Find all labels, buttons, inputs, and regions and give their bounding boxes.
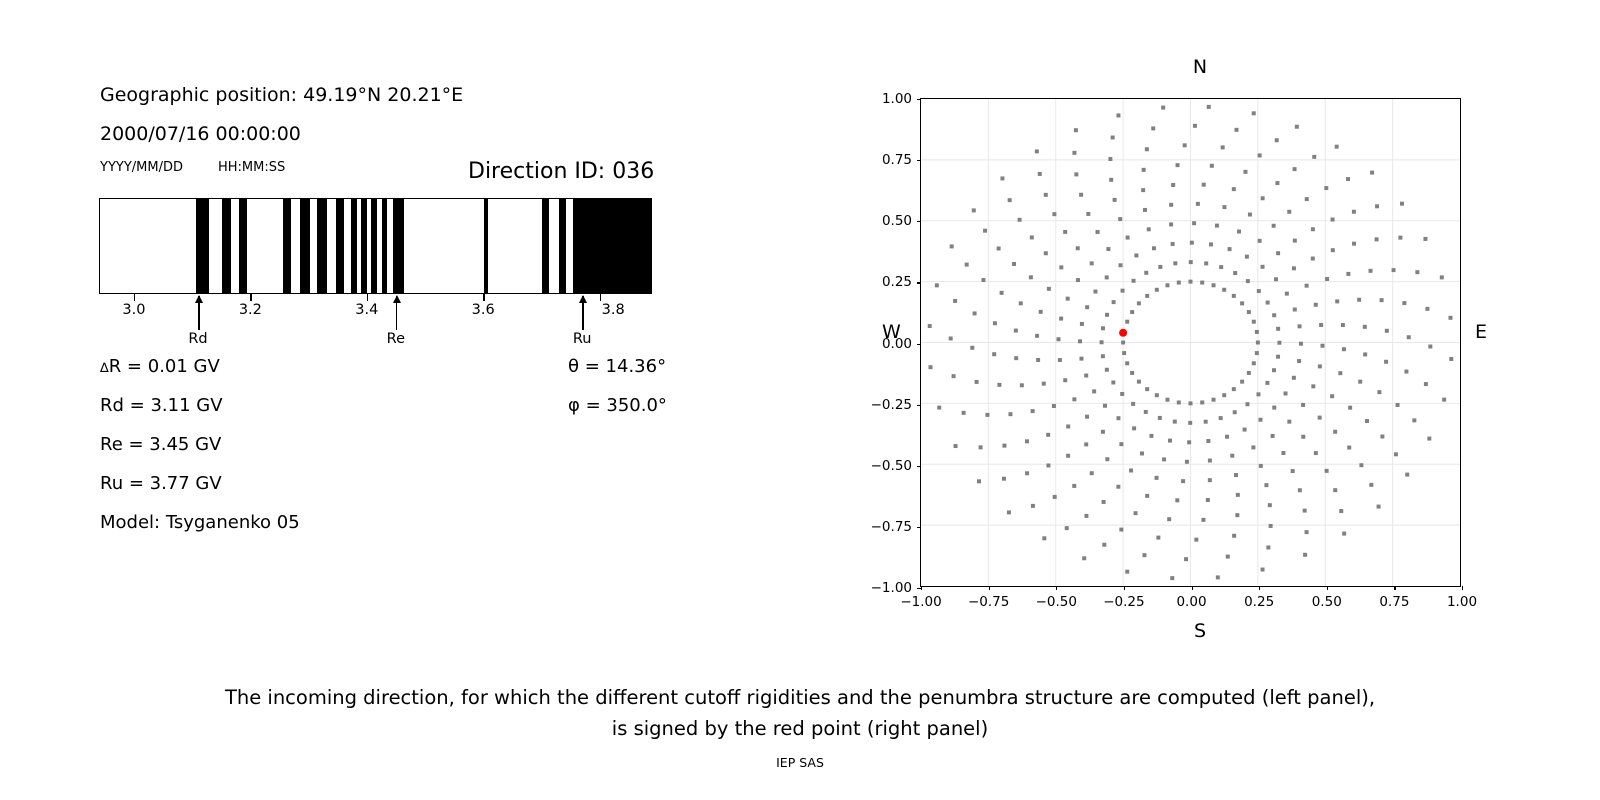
penumbra-tick [600, 294, 601, 301]
direction-point [1101, 326, 1105, 330]
x-axis-label: 1.00 [1447, 594, 1477, 610]
direction-point [1325, 469, 1329, 473]
direction-point [1264, 483, 1268, 487]
direction-point [1025, 439, 1029, 443]
direction-point [1076, 246, 1080, 250]
direction-point [1425, 307, 1429, 311]
direction-point [1132, 279, 1136, 283]
penumbra-axis: 3.03.23.43.63.8RdReRu [99, 294, 652, 354]
direction-point [1149, 434, 1153, 438]
direction-point [1442, 398, 1446, 402]
direction-point [1192, 221, 1196, 225]
direction-point [1299, 342, 1303, 346]
penumbra-band [542, 199, 549, 293]
direction-point [1130, 310, 1134, 314]
direction-point [1243, 428, 1247, 432]
y-axis-label: 1.00 [882, 91, 912, 107]
direction-point [1274, 277, 1278, 281]
direction-point [1392, 268, 1396, 272]
direction-point [1303, 553, 1307, 557]
direction-point [1184, 557, 1188, 561]
direction-point [1038, 172, 1042, 176]
direction-point [973, 311, 977, 315]
direction-point [937, 406, 941, 410]
direction-point [1170, 576, 1174, 580]
penumbra-bands-container [100, 199, 651, 293]
direction-point [1145, 387, 1149, 391]
direction-point [1201, 518, 1205, 522]
direction-point [1155, 393, 1159, 397]
compass-label-north: N [1193, 56, 1207, 78]
direction-point [1240, 380, 1244, 384]
direction-point [1044, 193, 1048, 197]
direction-point [935, 283, 939, 287]
direction-point [962, 411, 966, 415]
direction-point [1059, 265, 1063, 269]
compass-label-east: E [1475, 321, 1487, 343]
direction-point [1102, 543, 1106, 547]
direction-point [1298, 324, 1302, 328]
direction-point [1118, 217, 1122, 221]
direction-point [950, 244, 954, 248]
direction-point [1000, 176, 1004, 180]
direction-point [1161, 106, 1165, 110]
direction-point [1158, 416, 1162, 420]
direction-point [1448, 316, 1452, 320]
direction-point [1380, 298, 1384, 302]
direction-point [1255, 351, 1259, 355]
direction-point [1292, 266, 1296, 270]
direction-point [1018, 218, 1022, 222]
direction-point [1002, 477, 1006, 481]
direction-point [1287, 210, 1291, 214]
direction-point [1134, 253, 1138, 257]
direction-point [1275, 181, 1279, 185]
direction-point [1210, 164, 1214, 168]
penumbra-structure-chart [99, 198, 652, 294]
direction-point [1232, 534, 1236, 538]
direction-point [1130, 371, 1134, 375]
direction-point [1276, 327, 1280, 331]
direction-point [997, 246, 1001, 250]
penumbra-band [393, 199, 404, 293]
penumbra-band [573, 199, 652, 293]
penumbra-tick-label: 3.2 [239, 302, 262, 318]
direction-point [1325, 277, 1329, 281]
direction-point [1084, 442, 1088, 446]
y-axis-label: −0.75 [871, 519, 912, 535]
direction-point [985, 413, 989, 417]
direction-point [1257, 289, 1261, 293]
direction-point [1215, 224, 1219, 228]
y-axis-tick [917, 282, 921, 283]
direction-point [1275, 138, 1279, 142]
direction-point [1321, 344, 1325, 348]
direction-point [1384, 360, 1388, 364]
direction-point [1171, 183, 1175, 187]
direction-point [1141, 188, 1145, 192]
direction-point [1341, 323, 1345, 327]
direction-point [1121, 341, 1125, 345]
direction-point [1226, 555, 1230, 559]
direction-point [1292, 376, 1296, 380]
selected-direction-point[interactable] [1119, 329, 1127, 337]
direction-point [1207, 105, 1211, 109]
footer-credit: IEP SAS [0, 755, 1600, 770]
x-axis-tick [1462, 586, 1463, 590]
direction-point [1031, 504, 1035, 508]
penumbra-band [361, 199, 366, 293]
direction-point [952, 374, 956, 378]
y-axis-label: 0.25 [882, 274, 912, 290]
direction-point [1333, 430, 1337, 434]
direction-point [1228, 247, 1232, 251]
penumbra-tick [134, 294, 135, 301]
direction-point [1423, 237, 1427, 241]
direction-point [1100, 340, 1104, 344]
y-axis-label: −0.25 [871, 397, 912, 413]
direction-point [1281, 451, 1285, 455]
param-theta: θ = 14.36° [568, 356, 666, 377]
direction-point [1171, 242, 1175, 246]
direction-point [1314, 451, 1318, 455]
direction-point [1116, 485, 1120, 489]
direction-point [1219, 265, 1223, 269]
direction-point [1129, 468, 1133, 472]
direction-point [1121, 289, 1125, 293]
direction-point [1063, 378, 1067, 382]
direction-point [1318, 416, 1322, 420]
direction-point [1112, 300, 1116, 304]
direction-point [1247, 371, 1251, 375]
direction-point [1259, 464, 1263, 468]
y-axis-tick [917, 527, 921, 528]
direction-point [1156, 536, 1160, 540]
direction-point [1338, 371, 1342, 375]
direction-point [1261, 196, 1265, 200]
y-axis-tick [917, 160, 921, 161]
direction-point [1169, 203, 1173, 207]
direction-point [1047, 287, 1051, 291]
penumbra-band [283, 199, 291, 293]
direction-point [1066, 454, 1070, 458]
right-panel: N S W E −1.00−0.75−0.50−0.250.000.250.50… [800, 0, 1600, 660]
direction-point [1301, 403, 1305, 407]
direction-point [1330, 394, 1334, 398]
penumbra-band [239, 199, 248, 293]
direction-point [954, 444, 958, 448]
direction-point [1086, 212, 1090, 216]
cutoff-marker-label-rd: Rd [188, 331, 207, 347]
direction-point [1113, 198, 1117, 202]
direction-point [1105, 368, 1109, 372]
y-axis-label: −0.50 [871, 458, 912, 474]
direction-point [1183, 143, 1187, 147]
direction-point [1333, 488, 1337, 492]
penumbra-band [300, 199, 310, 293]
direction-point [1105, 313, 1109, 317]
x-axis-tick [989, 586, 990, 590]
direction-point [1324, 186, 1328, 190]
direction-point [1176, 163, 1180, 167]
direction-point [1245, 255, 1249, 259]
direction-point [1404, 370, 1408, 374]
time-format-hint: HH:MM:SS [218, 160, 285, 175]
direction-point [1111, 136, 1115, 140]
direction-point [1072, 397, 1076, 401]
direction-point [1155, 476, 1159, 480]
direction-point [1346, 177, 1350, 181]
datetime-text: 2000/07/16 00:00:00 [100, 123, 301, 145]
direction-point [1085, 415, 1089, 419]
direction-point [1057, 337, 1061, 341]
direction-point [1105, 275, 1109, 279]
direction-point [1402, 301, 1406, 305]
direction-point [1140, 451, 1144, 455]
direction-point [1042, 382, 1046, 386]
direction-point [1212, 398, 1216, 402]
direction-point [1396, 403, 1400, 407]
direction-point [1258, 153, 1262, 157]
direction-point [1090, 471, 1094, 475]
penumbra-band [559, 199, 566, 293]
direction-point [1415, 270, 1419, 274]
direction-point [1331, 248, 1335, 252]
direction-point [1012, 262, 1016, 266]
direction-point [1251, 445, 1255, 449]
direction-point [1208, 459, 1212, 463]
direction-point [1342, 347, 1346, 351]
direction-point [1265, 381, 1269, 385]
direction-point [1111, 380, 1115, 384]
direction-point [1200, 281, 1204, 285]
x-axis-tick [1327, 586, 1328, 590]
y-axis-label: 0.00 [882, 336, 912, 352]
direction-point [1222, 205, 1226, 209]
cutoff-marker-arrow-re [396, 296, 398, 330]
param-model: Model: Tsyganenko 05 [100, 512, 300, 533]
direction-point [1291, 469, 1295, 473]
direction-point [1165, 398, 1169, 402]
direction-point [1096, 230, 1100, 234]
direction-point [1235, 513, 1239, 517]
direction-point [1116, 113, 1120, 117]
direction-point [1284, 391, 1288, 395]
direction-point [972, 208, 976, 212]
direction-point [1266, 545, 1270, 549]
direction-point [1347, 446, 1351, 450]
x-axis-tick [921, 586, 922, 590]
direction-point [1412, 418, 1416, 422]
direction-point [1271, 434, 1275, 438]
direction-point [1145, 147, 1149, 151]
direction-point [1125, 320, 1129, 324]
direction-point [928, 324, 932, 328]
direction-point [1092, 389, 1096, 393]
direction-point [1293, 307, 1297, 311]
direction-point [1152, 246, 1156, 250]
direction-point [1072, 484, 1076, 488]
scatter-points-layer [921, 99, 1460, 586]
direction-point [1405, 473, 1409, 477]
direction-point [1252, 320, 1256, 324]
penumbra-tick-label: 3.4 [355, 302, 378, 318]
direction-point [1377, 390, 1381, 394]
direction-point [970, 346, 974, 350]
direction-point [1235, 128, 1239, 132]
direction-point [1377, 505, 1381, 509]
direction-point [1261, 568, 1265, 572]
direction-point [1059, 317, 1063, 321]
direction-point [1177, 400, 1181, 404]
direction-point [1209, 242, 1213, 246]
cutoff-marker-arrow-rd [198, 296, 200, 330]
x-axis-label: −1.00 [900, 594, 941, 610]
direction-point [1076, 278, 1080, 282]
direction-point [1204, 420, 1208, 424]
direction-point [1232, 187, 1236, 191]
direction-point [1268, 503, 1272, 507]
penumbra-tick [483, 294, 484, 301]
x-axis-tick [1394, 586, 1395, 590]
direction-point [1181, 479, 1185, 483]
direction-point [1007, 510, 1011, 514]
direction-point [1212, 283, 1216, 287]
direction-point [1365, 419, 1369, 423]
direction-point [1025, 471, 1029, 475]
direction-point [1072, 151, 1076, 155]
direction-point [1155, 288, 1159, 292]
direction-point [1346, 272, 1350, 276]
direction-point [1358, 380, 1362, 384]
direction-point [1008, 198, 1012, 202]
direction-point [1293, 239, 1297, 243]
direction-point [1272, 368, 1276, 372]
direction-point [1311, 384, 1315, 388]
direction-point [1090, 261, 1094, 265]
direction-point [1074, 128, 1078, 132]
direction-point [1196, 202, 1200, 206]
direction-point [1042, 536, 1046, 540]
direction-point [1301, 435, 1305, 439]
direction-point [1000, 291, 1004, 295]
penumbra-band [317, 199, 327, 293]
direction-point [1065, 526, 1069, 530]
x-axis-label: −0.50 [1036, 594, 1077, 610]
direction-point [1046, 463, 1050, 467]
x-axis-label: 0.00 [1176, 594, 1206, 610]
direction-point [1020, 383, 1024, 387]
direction-point [1314, 303, 1318, 307]
direction-point [1093, 290, 1097, 294]
direction-point [1440, 275, 1444, 279]
direction-point [1143, 208, 1147, 212]
penumbra-band [222, 199, 231, 293]
direction-point [1105, 457, 1109, 461]
cutoff-marker-arrow-ru [582, 296, 584, 330]
direction-point [1122, 351, 1126, 355]
direction-point [1188, 421, 1192, 425]
direction-point [1058, 358, 1062, 362]
direction-point [1277, 341, 1281, 345]
direction-point [1225, 435, 1229, 439]
direction-point [1145, 494, 1149, 498]
direction-point [1162, 457, 1166, 461]
direction-point [1173, 261, 1177, 265]
direction-point [1044, 251, 1048, 255]
direction-point [1221, 145, 1225, 149]
direction-point [1185, 460, 1189, 464]
direction-point [1318, 364, 1322, 368]
direction-point [1106, 247, 1110, 251]
direction-point [1287, 420, 1291, 424]
direction-point [1222, 288, 1226, 292]
direction-point [1293, 167, 1297, 171]
direction-point [1109, 178, 1113, 182]
y-axis-tick [917, 344, 921, 345]
direction-point [1359, 463, 1363, 467]
direction-point [1200, 400, 1204, 404]
direction-point [1233, 410, 1237, 414]
cutoff-marker-label-re: Re [387, 331, 405, 347]
direction-point [1029, 275, 1033, 279]
direction-point [1084, 514, 1088, 518]
direction-point [992, 352, 996, 356]
direction-point [1407, 335, 1411, 339]
direction-point [965, 263, 969, 267]
direction-point [1276, 355, 1280, 359]
direction-point [1173, 420, 1177, 424]
direction-point [949, 336, 953, 340]
direction-point [1335, 145, 1339, 149]
direction-point [1255, 330, 1259, 334]
direction-point [1319, 323, 1323, 327]
direction-point [1085, 305, 1089, 309]
direction-point [1177, 281, 1181, 285]
direction-point [1019, 301, 1023, 305]
direction-point [1258, 239, 1262, 243]
direction-point [1272, 224, 1276, 228]
direction-point [1266, 301, 1270, 305]
direction-point [1259, 418, 1263, 422]
direction-point [1204, 261, 1208, 265]
direction-point [1256, 392, 1260, 396]
param-Rd: Rd = 3.11 GV [100, 395, 223, 416]
direction-point [1144, 271, 1148, 275]
direction-point [977, 479, 981, 483]
y-axis-tick [917, 466, 921, 467]
direction-point [1208, 478, 1212, 482]
direction-point [1101, 354, 1105, 358]
direction-point [1074, 172, 1078, 176]
direction-point [1352, 242, 1356, 246]
param-Ru: Ru = 3.77 GV [100, 473, 222, 494]
x-axis-label: 0.50 [1312, 594, 1342, 610]
direction-point [1080, 322, 1084, 326]
direction-point [1063, 230, 1067, 234]
direction-point [1216, 575, 1220, 579]
direction-point [1305, 197, 1309, 201]
direction-point [953, 299, 957, 303]
direction-point [1246, 279, 1250, 283]
left-panel: Geographic position: 49.19°N 20.21°E 200… [0, 0, 760, 660]
direction-point [1385, 329, 1389, 333]
penumbra-band [336, 199, 345, 293]
direction-point [1245, 402, 1249, 406]
direction-point [1134, 511, 1138, 515]
direction-point [1375, 204, 1379, 208]
direction-point [1339, 509, 1343, 513]
